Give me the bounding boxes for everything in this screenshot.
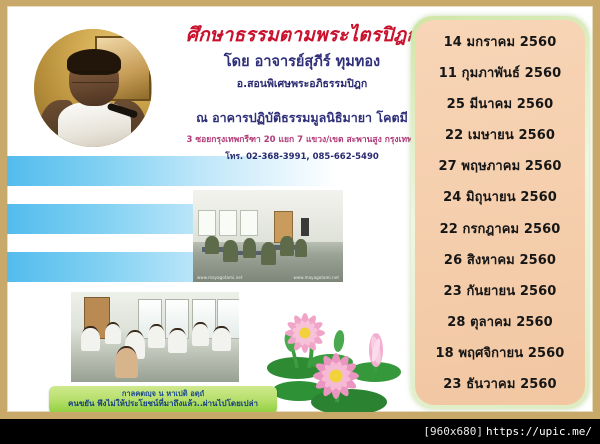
poster-header: ศึกษาธรรมตามพระไตรปิฎก โดย อาจารย์สุภีร์… <box>167 24 437 163</box>
venue-name: ณ อาคารปฏิบัติธรรมมูลนิธิมายา โคตมี <box>167 108 437 128</box>
date-item: 18 พฤศจิกายน 2560 <box>436 342 565 363</box>
classroom-photo-bottom <box>69 290 241 384</box>
date-item: 24 มิถุนายน 2560 <box>443 186 557 207</box>
lotus-illustration <box>263 306 413 412</box>
venue-phone: โทร. 02-368-3991, 085-662-5490 <box>167 149 437 163</box>
date-item: 28 ตุลาคม 2560 <box>447 311 553 332</box>
date-item: 25 มีนาคม 2560 <box>447 93 554 114</box>
quote-thai: คนขยัน พึงไม่ให้ประโยชน์ที่มาถึงแล้ว..ผ่… <box>55 399 271 410</box>
date-item: 23 กันยายน 2560 <box>444 280 557 301</box>
classroom-photo-top: www.mayagotami.net www.mayagotami.net <box>193 190 343 282</box>
quote-pali: กาลคตญฺจ น หาเปติ อตฺถํ <box>55 389 271 399</box>
quote-caption-box: กาลคตญฺจ น หาเปติ อตฺถํ คนขยัน พึงไม่ให้… <box>49 386 277 412</box>
image-viewer: ศึกษาธรรมตามพระไตรปิฎก โดย อาจารย์สุภีร์… <box>0 0 600 444</box>
date-item: 14 มกราคม 2560 <box>444 31 557 52</box>
date-item: 22 กรกฎาคม 2560 <box>440 218 561 239</box>
poster-speaker-role: อ.สอนพิเศษพระอภิธรรมปิฎก <box>167 75 437 92</box>
image-source-url[interactable]: https://upic.me/ <box>486 425 592 438</box>
photo-watermark-right: www.mayagotami.net <box>293 275 339 280</box>
date-item: 22 เมษายน 2560 <box>445 124 555 145</box>
poster-canvas: ศึกษาธรรมตามพระไตรปิฎก โดย อาจารย์สุภีร์… <box>7 6 593 412</box>
date-item: 11 กุมภาพันธ์ 2560 <box>439 62 562 83</box>
date-item: 26 สิงหาคม 2560 <box>444 249 556 270</box>
poster-speaker: โดย อาจารย์สุภีร์ ทุมทอง <box>167 53 437 72</box>
speaker-portrait <box>34 29 152 147</box>
venue-address: 3 ซอยกรุงเทพกรีฑา 20 แยก 7 แขวง/เขต สะพา… <box>167 132 437 146</box>
image-dimensions-label: [960x680] <box>423 425 483 438</box>
date-item: 27 พฤษภาคม 2560 <box>439 155 562 176</box>
date-item: 23 ธันวาคม 2560 <box>443 373 556 394</box>
schedule-date-panel: 14 มกราคม 2560 11 กุมภาพันธ์ 2560 25 มีน… <box>415 20 585 405</box>
poster-title: ศึกษาธรรมตามพระไตรปิฎก <box>167 24 437 48</box>
photo-watermark-left: www.mayagotami.net <box>197 275 243 280</box>
viewer-status-bar: [960x680] https://upic.me/ <box>0 419 600 444</box>
poster-frame: ศึกษาธรรมตามพระไตรปิฎก โดย อาจารย์สุภีร์… <box>0 0 600 419</box>
